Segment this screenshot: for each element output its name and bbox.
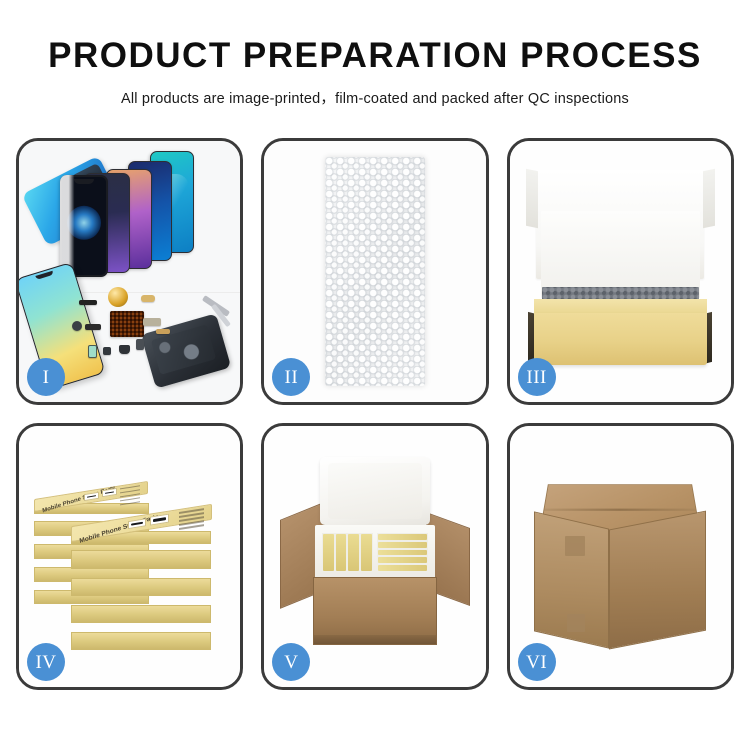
- step-badge-4: IV: [27, 643, 65, 681]
- step-badge-6: VI: [518, 643, 556, 681]
- step-badge-1: I: [27, 358, 65, 396]
- box-spec-lines: [121, 485, 141, 508]
- screen-glare: [60, 175, 108, 277]
- carton-seam: [545, 508, 696, 510]
- box-side: [71, 578, 212, 597]
- stacked-box-back-1: Mobile Phone Spare Parts: [34, 490, 148, 513]
- product-preparation-infographic: PRODUCT PREPARATION PROCESS All products…: [0, 0, 750, 750]
- step-panel-4: Mobile Phone Spare Parts: [16, 423, 243, 690]
- part-gold-strip: [156, 329, 170, 334]
- phone-display-fan: [54, 157, 214, 277]
- stacked-box-front-5: [71, 625, 212, 650]
- bubble-wrap-texture: [325, 157, 425, 387]
- part-flex-cable: [79, 300, 97, 305]
- box-group-vertical: [322, 533, 373, 572]
- step-panel-6: VI: [507, 423, 734, 690]
- process-steps-grid: I II: [16, 138, 734, 690]
- stacked-box-front-4: [71, 598, 212, 623]
- box-window-2: [103, 488, 118, 497]
- step-panel-3: III: [507, 138, 734, 405]
- part-sim-tray: [88, 345, 97, 358]
- carton-tape-upper: [565, 536, 585, 557]
- box-front-yellow: [534, 313, 707, 365]
- stacked-box-front-1: Mobile Phone Spare Parts: [71, 515, 212, 542]
- bubble-wrap-bag: [325, 157, 425, 387]
- coil-part-icon: [108, 287, 128, 307]
- part-bracket: [143, 318, 161, 326]
- part-strip: [85, 324, 101, 330]
- step-panel-1: I: [16, 138, 243, 405]
- part-chip: [103, 347, 111, 355]
- page-subtitle: All products are image-printed，film-coat…: [0, 87, 750, 108]
- box-window-1: [85, 491, 100, 500]
- stacked-box-front-2: [71, 544, 212, 569]
- step-panel-2: II: [261, 138, 488, 405]
- carton-tape-lower: [567, 614, 585, 632]
- box-side: [71, 632, 212, 651]
- box-side: [71, 605, 212, 624]
- part-gold-connector: [141, 295, 155, 302]
- box-stack: Mobile Phone Spare Parts: [34, 452, 224, 661]
- stacked-box-front-3: [71, 571, 212, 596]
- chip-array-icon: [110, 311, 144, 337]
- foam-lid: [320, 457, 431, 525]
- step-badge-3: III: [518, 358, 556, 396]
- carton-right-face: [609, 510, 706, 649]
- part-battery-tab: [136, 339, 144, 350]
- page-title: PRODUCT PREPARATION PROCESS: [0, 38, 750, 75]
- box-rim: [534, 299, 707, 315]
- header: PRODUCT PREPARATION PROCESS All products…: [0, 0, 750, 108]
- part-speaker: [119, 345, 130, 354]
- foam-sheet: [541, 211, 700, 297]
- box-side: [71, 550, 212, 569]
- box-spec-lines: [179, 508, 204, 532]
- box-group-horizontal: [377, 533, 428, 572]
- yellow-boxes-inside: [322, 533, 428, 572]
- box-window-1: [127, 518, 145, 529]
- carton-front-panel: [313, 577, 437, 645]
- step-panel-5: V: [261, 423, 488, 690]
